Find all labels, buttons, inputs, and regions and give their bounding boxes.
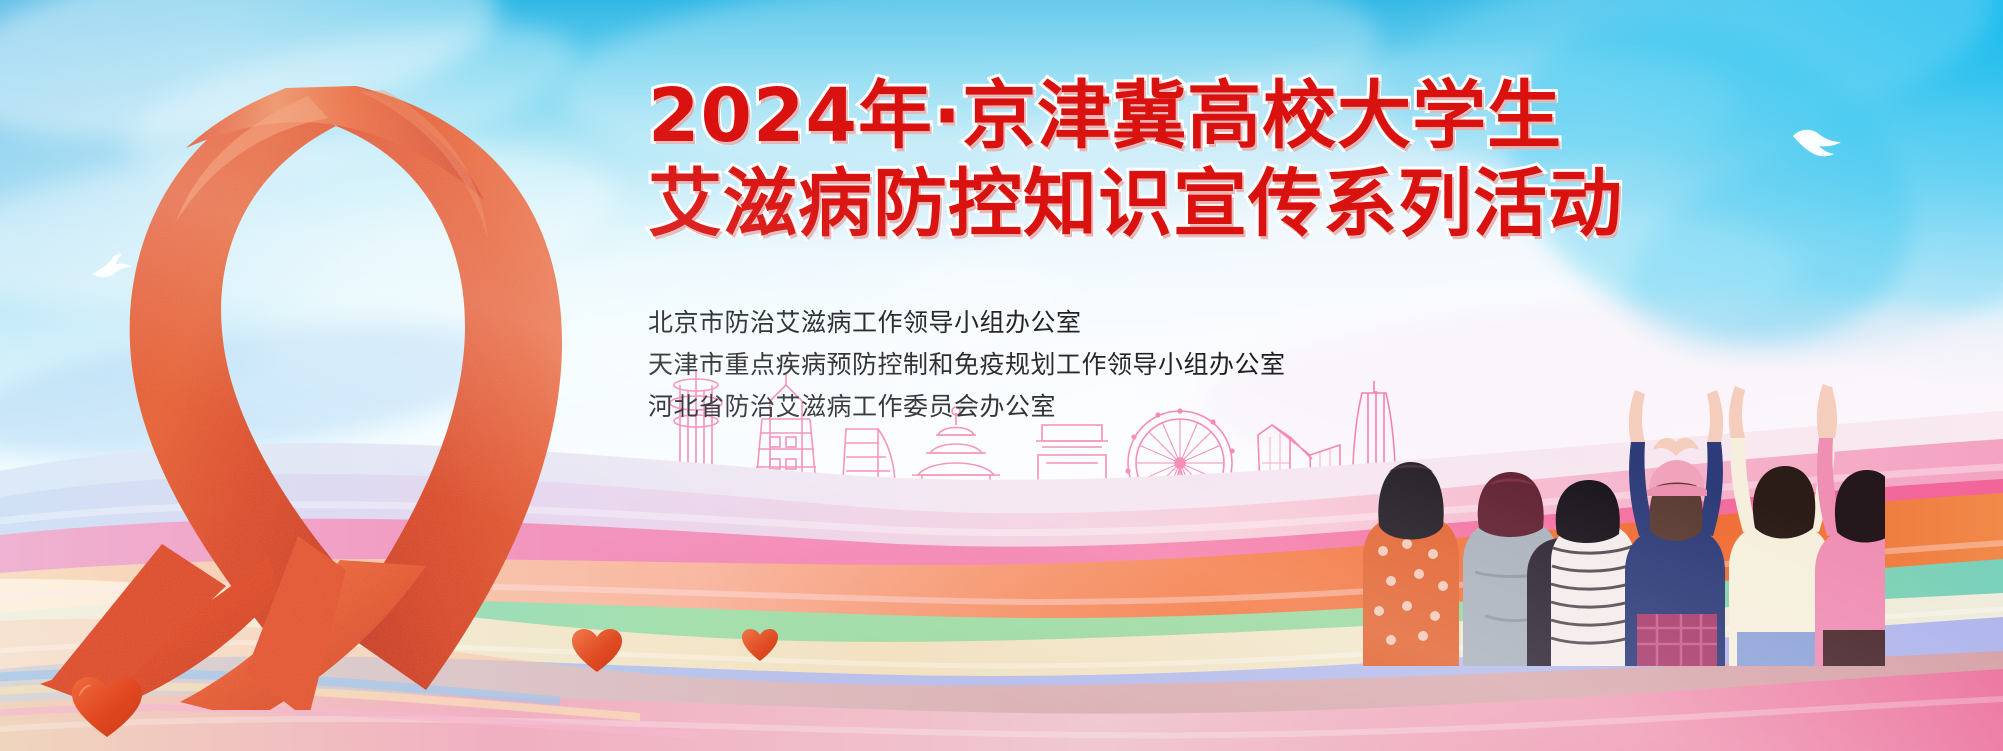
- organizer-item: 北京市防治艾滋病工作领导小组办公室: [648, 302, 1286, 344]
- organizer-list: 北京市防治艾滋病工作领导小组办公室 天津市重点疾病预防控制和免疫规划工作领导小组…: [648, 302, 1286, 428]
- organizer-item: 天津市重点疾病预防控制和免疫规划工作领导小组办公室: [648, 344, 1286, 386]
- campaign-banner: 2024年·京津冀高校大学生 艾滋病防控知识宣传系列活动 北京市防治艾滋病工作领…: [0, 0, 2003, 751]
- headline-line-1: 2024年·京津冀高校大学生: [648, 72, 1768, 160]
- headline-block: 2024年·京津冀高校大学生 艾滋病防控知识宣传系列活动: [648, 72, 1768, 248]
- headline-line-2: 艾滋病防控知识宣传系列活动: [648, 160, 1768, 248]
- organizer-item: 河北省防治艾滋病工作委员会办公室: [648, 386, 1286, 428]
- sky-left-glow: [0, 0, 620, 520]
